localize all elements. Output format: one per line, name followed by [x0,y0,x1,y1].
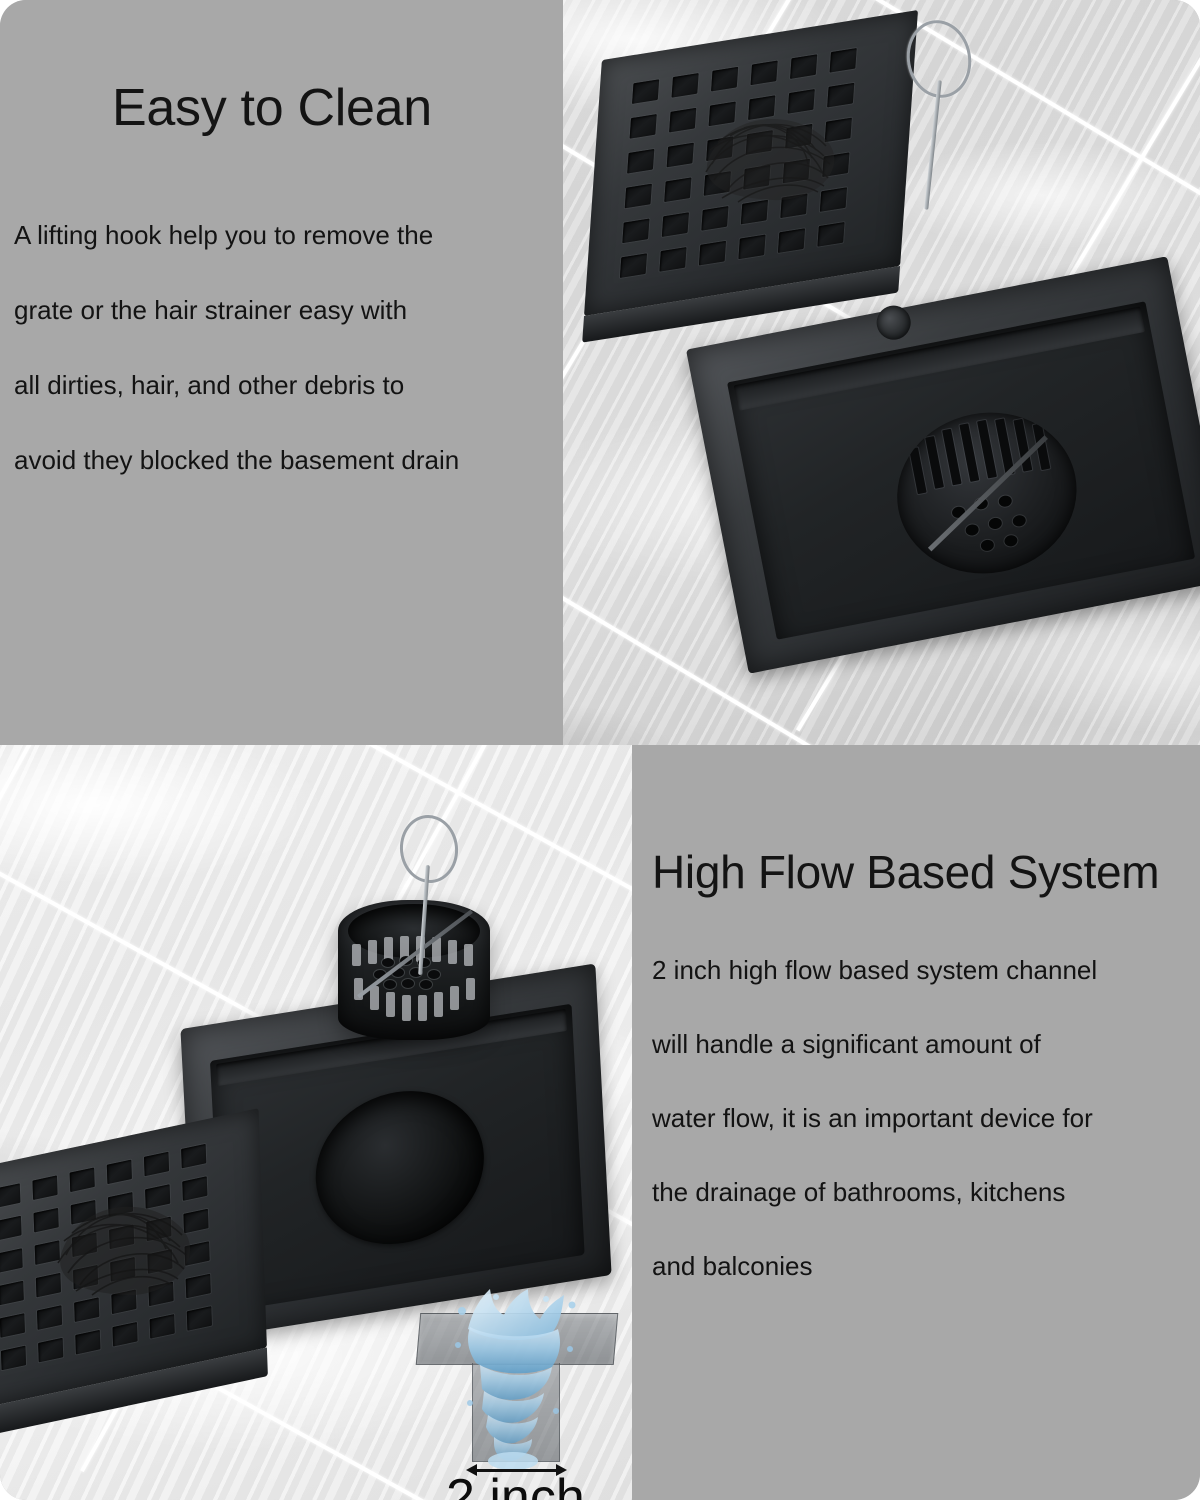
wire-lifting-hook [380,815,470,965]
grate-hole [622,219,649,244]
strainer-drain-hole [1012,514,1027,527]
panel-high-flow: High Flow Based System 2 inch high flow … [632,745,1200,1500]
grate-hole [662,212,689,237]
body-line: grate or the hair strainer easy with [14,273,459,348]
heading-easy-to-clean: Easy to Clean [112,78,432,138]
grate-hole [741,200,768,225]
basket-floor-hole [428,970,440,979]
basket-slot [352,944,361,966]
grate-hole [181,1144,206,1168]
basket-slot [450,986,459,1010]
strainer-drain-hole [988,517,1003,530]
grate-hole [659,247,686,272]
grate-hole [667,143,694,168]
body-line: 2 inch high flow based system channel [652,933,1097,1007]
panel-easy-to-clean: Easy to Clean A lifting hook help you to… [0,0,563,745]
strainer-drain-hole [998,495,1013,508]
infographic-page: Easy to Clean A lifting hook help you to… [0,0,1200,1500]
grate-hole [830,48,857,73]
grate-hole [70,1168,95,1192]
strainer-drain-hole [980,539,995,552]
grate-hole [0,1313,25,1337]
grate-hole [35,1240,60,1264]
photo-top-right [563,0,1200,745]
grate-hole [706,136,733,161]
grate-hole [632,79,659,104]
grate-hole [144,1152,169,1176]
basket-slot [434,992,443,1017]
grate-hole [778,228,805,253]
grate-hole [783,159,810,184]
grate-hole [664,178,691,203]
grate-hole [73,1265,98,1289]
grate-hole [111,1290,136,1314]
drain-grate-cover [584,10,918,316]
grate-hole [620,253,647,278]
grate-hole [825,118,852,143]
photo-bottom-left: 2 inch [0,745,632,1500]
grate-hole [751,61,778,86]
heading-high-flow: High Flow Based System [652,845,1159,899]
grate-hole [827,83,854,108]
grate-hole [817,222,844,247]
grate-hole [785,124,812,149]
grate-hole [738,235,765,260]
dimension-label: 2 inch [446,1468,585,1500]
grate-hole [183,1209,208,1233]
grate-hole [146,1217,171,1241]
body-line: will handle a significant amount of [652,1007,1097,1081]
body-line: all dirties, hair, and other debris to [14,348,459,423]
grate-hole [746,130,773,155]
grate-hole [743,165,770,190]
grate-hole [32,1175,57,1199]
grate-hole [0,1216,22,1240]
grate-hole [625,184,652,209]
grate-hole [704,171,731,196]
basket-slot [466,978,475,1000]
grate-hole [780,194,807,219]
body-line: the drainage of bathrooms, kitchens [652,1155,1097,1229]
grate-hole [185,1241,210,1265]
strainer-drain-hole [1004,534,1019,547]
basket-slot [402,995,411,1021]
grate-hole [709,102,736,127]
hook-stem [418,865,430,975]
strainer-slot [959,423,979,482]
body-line: and balconies [652,1229,1097,1303]
drain-grate-cover [0,1108,267,1410]
strainer-slot [942,429,962,486]
basket-slot [418,995,427,1021]
grate-hole [145,1184,170,1208]
grate-hole [74,1297,99,1321]
grate-hole [627,149,654,174]
grate-hole [34,1208,59,1232]
grate-hole-grid [620,48,857,278]
strainer-slot [909,447,927,494]
grate-hole [701,206,728,231]
grate-hole [748,95,775,120]
basket-slot [370,986,379,1010]
body-line: A lifting hook help you to remove the [14,198,459,273]
wire-lifting-hook [893,20,983,220]
grate-hole [699,241,726,266]
body-line: water flow, it is an important device fo… [652,1081,1097,1155]
basket-floor-hole [402,979,414,988]
grate-hole [630,114,657,139]
grate-hole [108,1192,133,1216]
grate-hole [182,1176,207,1200]
grate-hole [71,1200,96,1224]
body-easy-to-clean: A lifting hook help you to remove the gr… [14,198,459,498]
basket-slot [386,992,395,1017]
grate-hole [788,89,815,114]
strainer-slot [977,420,997,479]
hook-stem [924,80,942,210]
grate-hole [110,1257,135,1281]
grate-hole [37,1305,62,1329]
grate-hole [109,1225,134,1249]
grate-hole [186,1274,211,1298]
grate-hole [672,73,699,98]
grate-hole [0,1183,20,1207]
grate-hole [820,187,847,212]
body-line: avoid they blocked the basement drain [14,423,459,498]
grate-hole [107,1160,132,1184]
body-high-flow: 2 inch high flow based system channel wi… [652,933,1097,1303]
grate-hole [72,1233,97,1257]
basket-floor-hole [384,980,396,989]
grate-hole [147,1249,172,1273]
strainer-drain-hole [965,523,980,536]
strainer-slot [925,436,944,489]
grate-hole [149,1282,174,1306]
basket-slot [368,940,377,964]
grate-hole [36,1273,61,1297]
basket-floor-hole [420,980,432,989]
grate-hole [0,1281,24,1305]
grate-hole [0,1248,23,1272]
grate-hole [790,54,817,79]
grate-hole [822,152,849,177]
grate-hole [711,67,738,92]
grate-hole [669,108,696,133]
